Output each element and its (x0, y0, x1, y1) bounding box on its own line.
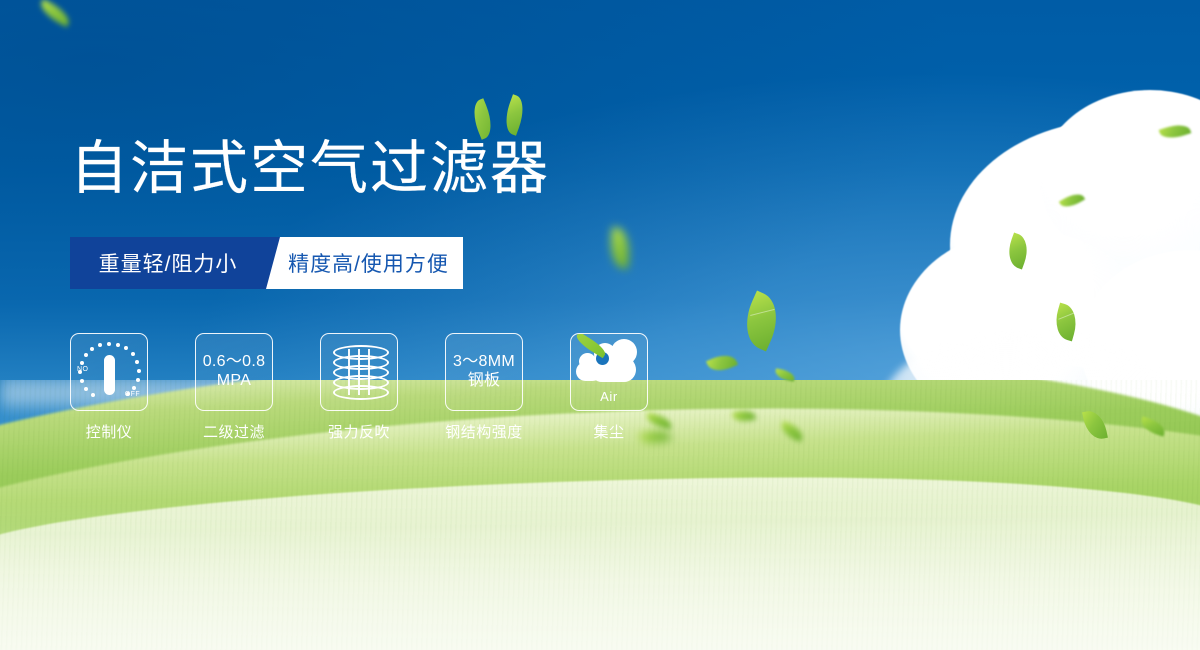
coil-icon (330, 343, 388, 401)
feature-item-steel[interactable]: 3～8MM 钢板 钢结构强度 (445, 333, 523, 442)
feature-icon-box (320, 333, 398, 411)
feature-item-backblow[interactable]: 强力反吹 (320, 333, 398, 442)
steel-plate: 钢板 (453, 372, 515, 391)
gauge-off-label: OFF (125, 391, 140, 398)
feature-item-dust[interactable]: Air 集尘 (570, 333, 648, 442)
gauge-icon: NO OFF (78, 341, 140, 403)
subtitle-left: 重量轻/阻力小 (70, 237, 266, 289)
subtitle-right: 精度高/使用方便 (266, 237, 463, 289)
cloud-air-icon: Air (576, 342, 642, 402)
pressure-text-icon: 0.6～0.8 MPA (203, 353, 266, 391)
feature-icon-box: 0.6～0.8 MPA (195, 333, 273, 411)
sprout-leaves-icon (470, 96, 540, 146)
feature-label: 集尘 (593, 421, 624, 442)
feature-item-filtration[interactable]: 0.6～0.8 MPA 二级过滤 (195, 333, 273, 442)
page-title: 自洁式空气过滤器 (70, 140, 550, 198)
pressure-unit: MPA (203, 372, 266, 391)
feature-item-controller[interactable]: NO OFF 控制仪 (70, 333, 148, 442)
pressure-range: 0.6～0.8 (203, 353, 266, 372)
product-banner: 自洁式空气过滤器 重量轻/阻力小 精度高/使用方便 (0, 0, 1200, 650)
feature-label: 二级过滤 (203, 421, 265, 442)
feature-icon-box: Air (570, 333, 648, 411)
air-label: Air (576, 389, 642, 404)
feature-label: 控制仪 (86, 421, 133, 442)
feature-icon-box: 3～8MM 钢板 (445, 333, 523, 411)
feature-label: 强力反吹 (328, 421, 390, 442)
steel-text-icon: 3～8MM 钢板 (453, 353, 515, 391)
title-block: 自洁式空气过滤器 (70, 140, 550, 198)
gauge-no-label: NO (77, 366, 88, 373)
feature-label: 钢结构强度 (445, 421, 523, 442)
feature-list: NO OFF 控制仪 0.6～0.8 MPA 二级过滤 (70, 333, 648, 442)
feature-icon-box: NO OFF (70, 333, 148, 411)
steel-thickness: 3～8MM (453, 353, 515, 372)
subtitle-bar: 重量轻/阻力小 精度高/使用方便 (70, 237, 463, 289)
